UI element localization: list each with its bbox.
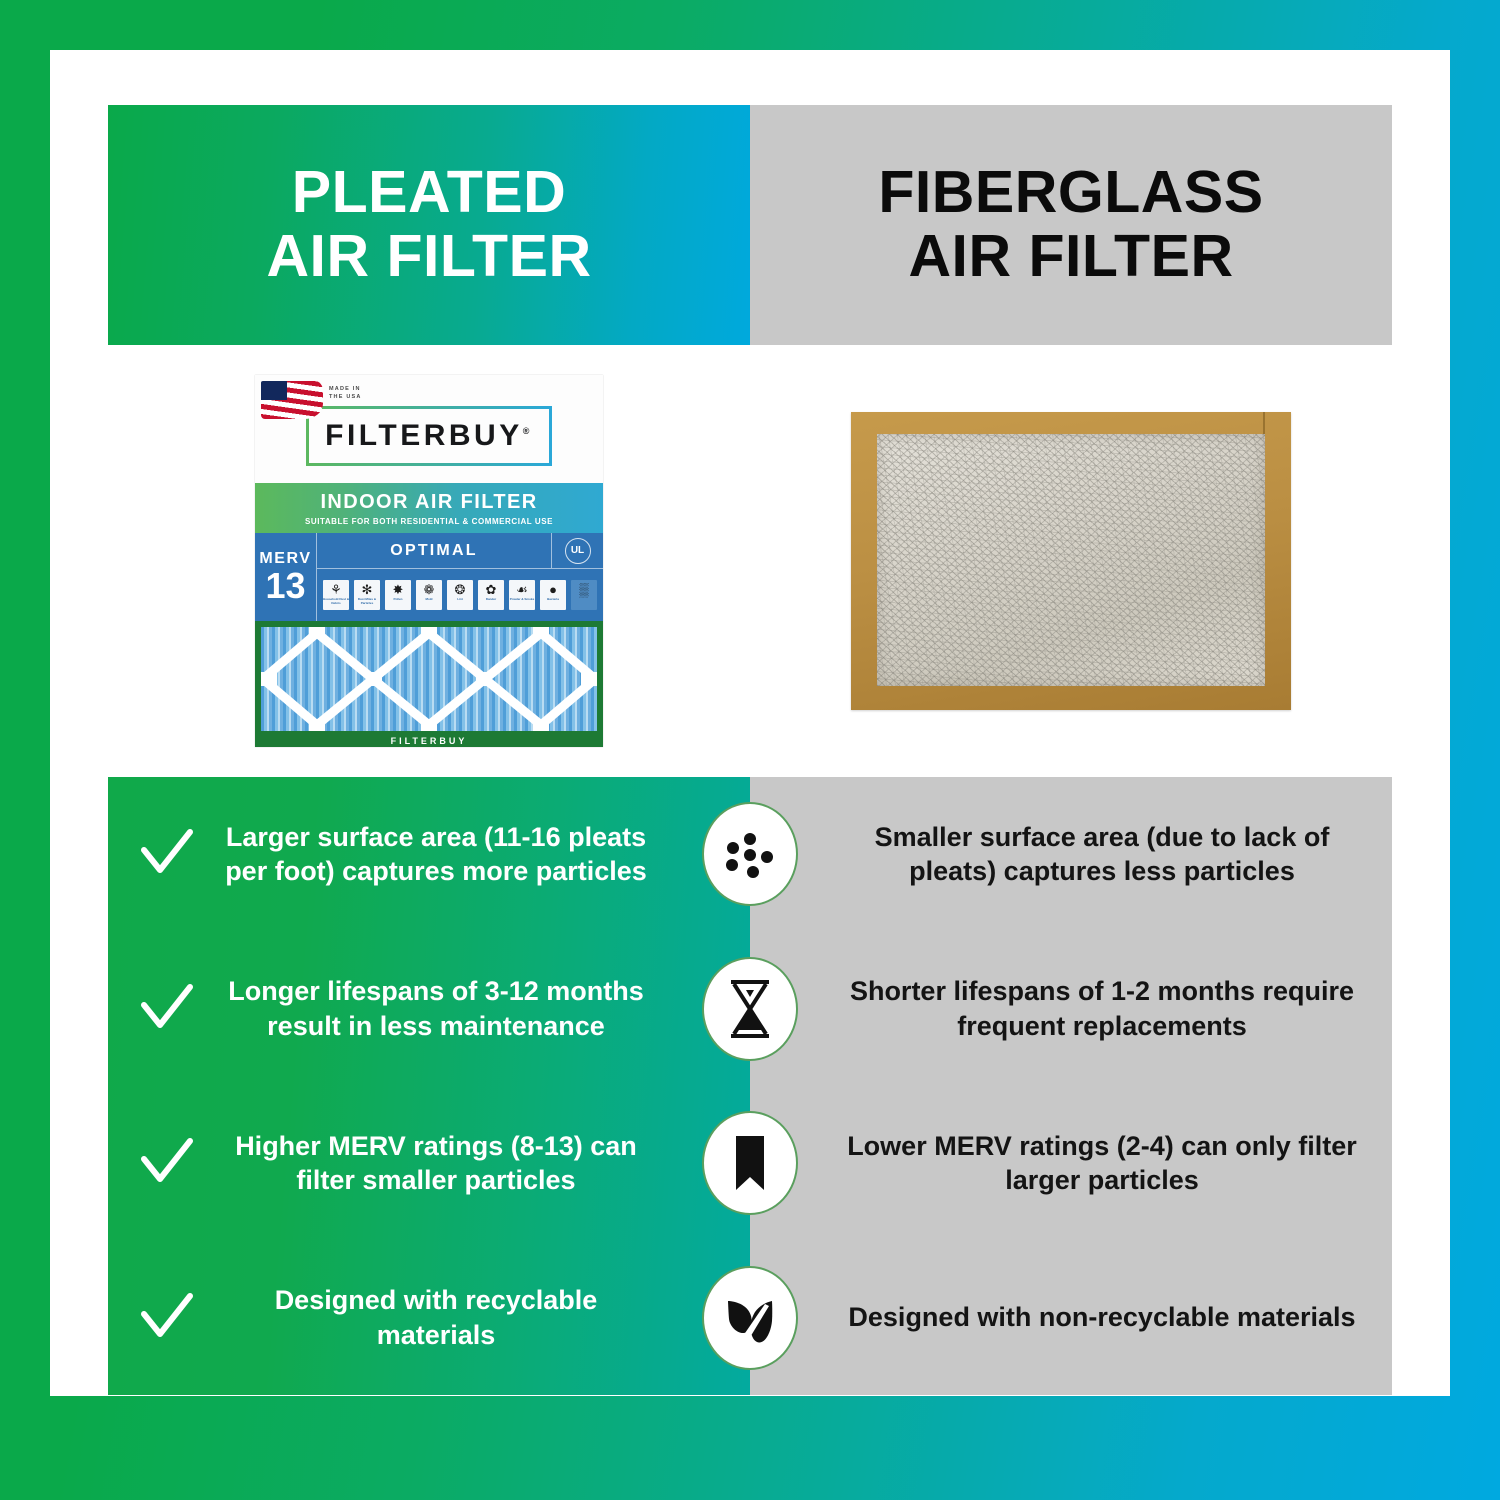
hourglass-icon [721, 978, 779, 1040]
comparison-row-left: Higher MERV ratings (8-13) can filter sm… [108, 1129, 750, 1198]
brand-logo-box: FILTERBUY® [306, 406, 552, 466]
merv-value: 13 [265, 568, 305, 604]
comparison-row: Designed with recyclable materials [108, 1241, 1392, 1396]
tier-row: OPTIMAL UL [317, 533, 603, 569]
fiberglass-product-cell [750, 345, 1392, 777]
capture-tile: ❂Lint [447, 580, 473, 610]
infographic-page: PLEATED AIR FILTER FIBERGLASS AIR FILTER [0, 0, 1500, 1500]
lint-icon: ❂ [455, 583, 466, 596]
tier-name: OPTIMAL [317, 542, 551, 560]
pleated-filter-box-image: MADE IN THE USA FILTERBUY® INDOOR AIR FI… [255, 375, 603, 747]
header-fiberglass-title: FIBERGLASS AIR FILTER [878, 161, 1263, 288]
comparison-right-text: Smaller surface area (due to lack of ple… [840, 820, 1364, 889]
mold-icon: ❁ [424, 583, 435, 596]
box-band-subtitle: SUITABLE FOR BOTH RESIDENTIAL & COMMERCI… [305, 517, 553, 526]
comparison-rows: Larger surface area (11-16 pleats per fo… [108, 777, 1392, 1395]
capture-tile-caption: Mold [426, 598, 433, 602]
comparison-row-right: Lower MERV ratings (2-4) can only filter… [750, 1129, 1392, 1198]
comparison-row: Larger surface area (11-16 pleats per fo… [108, 777, 1392, 932]
comparison-panel: Larger surface area (11-16 pleats per fo… [108, 777, 1392, 1395]
comparison-row-right: Shorter lifespans of 1-2 months require … [750, 974, 1392, 1043]
comparison-right-text: Designed with non-recyclable materials [840, 1300, 1364, 1335]
pleated-product-cell: MADE IN THE USA FILTERBUY® INDOOR AIR FI… [108, 345, 750, 777]
comparison-row: Higher MERV ratings (8-13) can filter sm… [108, 1086, 1392, 1241]
capture-tile: ✻Dust Mites & Particles [354, 580, 380, 610]
box-spec-section: MERV 13 OPTIMAL UL [255, 533, 603, 621]
header-pleated-line2: AIR FILTER [266, 225, 591, 289]
comparison-row-left: Designed with recyclable materials [108, 1283, 750, 1352]
row-icon-leaf [702, 1266, 798, 1370]
pleat-texture [261, 627, 597, 731]
capture-tile-caption: Powder & Smoke [510, 598, 535, 602]
registered-mark: ® [523, 426, 533, 436]
header-fiberglass-line1: FIBERGLASS [878, 161, 1263, 225]
icon-ring [702, 1111, 798, 1215]
smoke-icon: ☙ [516, 583, 528, 596]
icon-ring [702, 1266, 798, 1370]
capture-tile-caption: Dander [486, 598, 496, 602]
filter-face-artwork: FILTERBUY [255, 621, 603, 747]
comparison-row: Longer lifespans of 3-12 months result i… [108, 932, 1392, 1087]
row-icon-hourglass [702, 957, 798, 1061]
capture-tile-caption: Dust Mites & Particles [354, 598, 380, 605]
merv-block: MERV 13 [255, 533, 317, 621]
merv-right-column: OPTIMAL UL ⚘Household Dust & Debris ✻Dus… [317, 533, 603, 621]
capture-tile: ☙Powder & Smoke [509, 580, 535, 610]
bookmark-icon [721, 1132, 779, 1194]
bacteria-icon: ● [549, 583, 557, 596]
comparison-left-text: Higher MERV ratings (8-13) can filter sm… [212, 1129, 660, 1198]
capture-tile: ⚘Household Dust & Debris [323, 580, 349, 610]
box-top-section: MADE IN THE USA FILTERBUY® [255, 375, 603, 483]
header-fiberglass-line2: AIR FILTER [878, 225, 1263, 289]
header-pleated-title: PLEATED AIR FILTER [266, 161, 591, 288]
white-card: PLEATED AIR FILTER FIBERGLASS AIR FILTER [50, 50, 1450, 1396]
check-icon [136, 824, 196, 884]
capture-tiles-row: ⚘Household Dust & Debris ✻Dust Mites & P… [317, 569, 603, 621]
comparison-left-text: Designed with recyclable materials [212, 1283, 660, 1352]
comparison-right-text: Shorter lifespans of 1-2 months require … [840, 974, 1364, 1043]
row-icon-particles [702, 802, 798, 906]
leaf-icon [721, 1287, 779, 1349]
capture-tile: ❁Mold [416, 580, 442, 610]
box-band-title: INDOOR AIR FILTER [320, 491, 537, 514]
capture-tile: ●Bacteria [540, 580, 566, 610]
comparison-left-text: Larger surface area (11-16 pleats per fo… [212, 820, 660, 889]
capture-tile-caption: Pollen [393, 598, 402, 602]
ul-icon: UL [565, 538, 591, 564]
comparison-right-text: Lower MERV ratings (2-4) can only filter… [840, 1129, 1364, 1198]
content-area: PLEATED AIR FILTER FIBERGLASS AIR FILTER [108, 105, 1392, 1395]
header-pleated-line1: PLEATED [266, 161, 591, 225]
header-pleated: PLEATED AIR FILTER [108, 105, 750, 345]
comparison-row-right: Smaller surface area (due to lack of ple… [750, 820, 1392, 889]
icon-ring [702, 957, 798, 1061]
capture-tile-disabled: ▒ [571, 580, 597, 610]
usa-flag-icon [261, 381, 323, 419]
comparison-left-text: Longer lifespans of 3-12 months result i… [212, 974, 660, 1043]
check-icon [136, 979, 196, 1039]
particles-icon [713, 817, 787, 891]
comparison-row-left: Longer lifespans of 3-12 months result i… [108, 974, 750, 1043]
check-icon [136, 1133, 196, 1193]
capture-tile-caption: Household Dust & Debris [323, 598, 349, 605]
capture-tile: ✸Pollen [385, 580, 411, 610]
dander-icon: ✿ [486, 583, 497, 596]
comparison-row-left: Larger surface area (11-16 pleats per fo… [108, 820, 750, 889]
fiberglass-filter-image [851, 412, 1291, 710]
dust-mite-icon: ✻ [362, 583, 373, 596]
pollen-icon: ✸ [393, 583, 404, 596]
comparison-row-right: Designed with non-recyclable materials [750, 1300, 1392, 1335]
icon-ring [702, 802, 798, 906]
diamond-support-grid [261, 627, 597, 731]
capture-tile: ✿Dander [478, 580, 504, 610]
capture-tile-caption: Bacteria [547, 598, 559, 602]
fiberglass-mesh-texture [877, 434, 1265, 686]
filter-mesh-icon: ▒ [579, 583, 588, 596]
box-band: INDOOR AIR FILTER SUITABLE FOR BOTH RESI… [255, 483, 603, 533]
row-icon-bookmark [702, 1111, 798, 1215]
brand-name: FILTERBUY® [325, 419, 533, 453]
headers-row: PLEATED AIR FILTER FIBERGLASS AIR FILTER [108, 105, 1392, 345]
dust-icon: ⚘ [330, 583, 342, 596]
ul-certification-badge: UL [551, 533, 603, 568]
made-in-usa-label: MADE IN THE USA [329, 385, 362, 402]
filter-face-brand: FILTERBUY [255, 736, 603, 746]
products-row: MADE IN THE USA FILTERBUY® INDOOR AIR FI… [108, 345, 1392, 777]
check-icon [136, 1288, 196, 1348]
capture-tile-caption: Lint [457, 598, 463, 602]
header-fiberglass: FIBERGLASS AIR FILTER [750, 105, 1392, 345]
